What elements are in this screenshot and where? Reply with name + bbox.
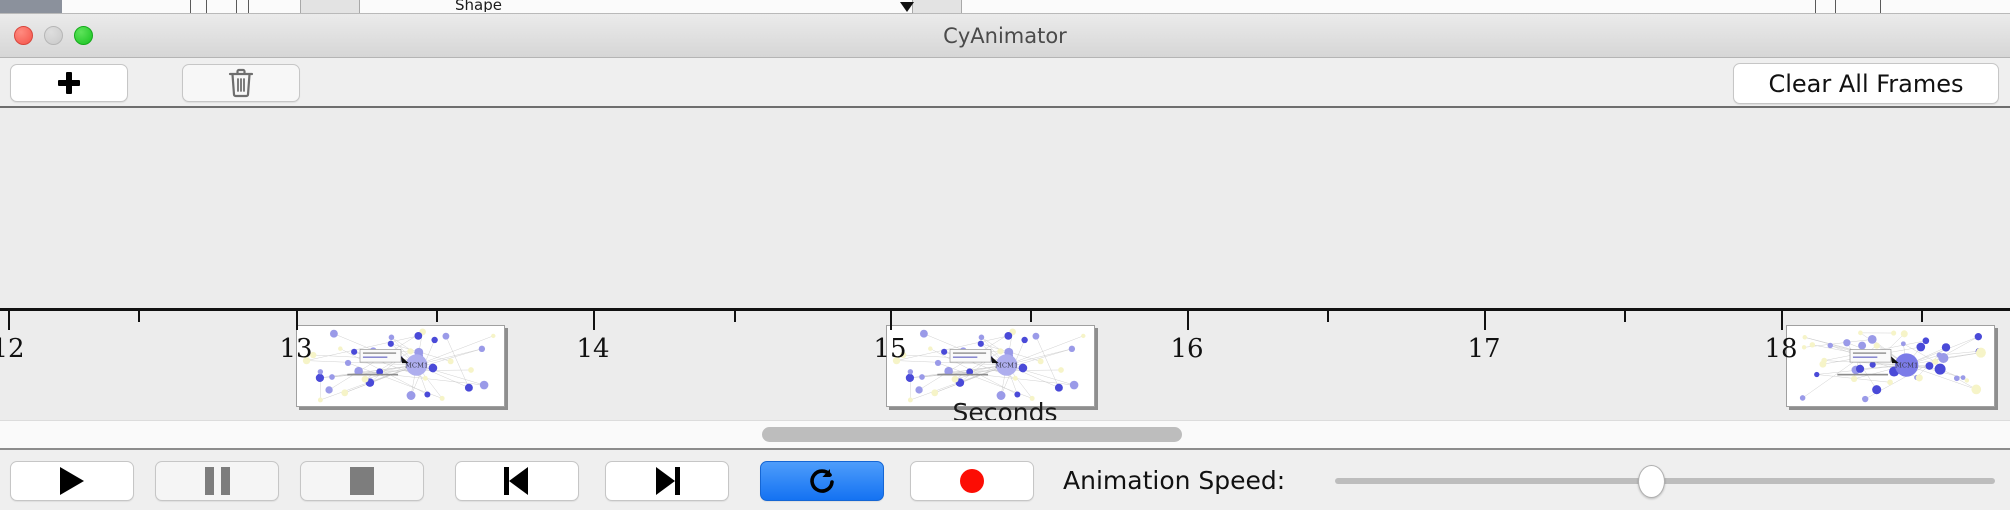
record-button[interactable]	[910, 461, 1034, 501]
background-tab	[912, 0, 962, 14]
axis-title: Seconds	[0, 398, 2010, 420]
ruler-tick-minor	[1921, 311, 1923, 322]
skip-forward-button[interactable]	[605, 461, 729, 501]
loop-button[interactable]	[760, 461, 884, 501]
background-app-strip: Shape	[0, 0, 2010, 14]
background-tick	[248, 0, 249, 14]
play-button[interactable]	[10, 461, 134, 501]
skip-forward-icon	[654, 467, 680, 495]
playback-control-bar: Animation Speed:	[0, 448, 2010, 510]
toolbar: Clear All Frames	[0, 58, 2010, 108]
animation-speed-slider[interactable]	[1335, 461, 1995, 501]
scrollbar-thumb[interactable]	[762, 427, 1182, 442]
ruler-tick-label: 18	[1764, 334, 1797, 364]
horizontal-scrollbar[interactable]	[0, 420, 2010, 448]
background-app-word: Shape	[455, 0, 502, 12]
ruler-tick-label: 14	[576, 334, 609, 364]
background-arrow-icon	[900, 2, 914, 12]
ruler-tick-minor	[1030, 311, 1032, 322]
stop-button[interactable]	[300, 461, 424, 501]
ruler-tick-label: 12	[0, 334, 25, 364]
skip-back-icon	[504, 467, 530, 495]
background-tab	[300, 0, 360, 14]
background-tick	[1880, 0, 1881, 14]
ruler-tick-minor	[436, 311, 438, 322]
ruler-tick-major	[1781, 311, 1783, 330]
play-icon	[60, 467, 84, 495]
slider-thumb[interactable]	[1638, 465, 1665, 498]
ruler-tick-minor	[1327, 311, 1329, 322]
ruler-tick-major	[296, 311, 298, 330]
ruler-tick-label: 15	[873, 334, 906, 364]
ruler-tick-minor	[1624, 311, 1626, 322]
animation-speed-label: Animation Speed:	[1063, 461, 1285, 501]
ruler-tick-label: 17	[1467, 334, 1500, 364]
pause-icon	[205, 467, 230, 495]
background-tick	[1815, 0, 1816, 14]
ruler-tick-major	[890, 311, 892, 330]
ruler-tick-major	[1187, 311, 1189, 330]
slider-track[interactable]	[1335, 478, 1995, 484]
timeline-ruler[interactable]: 12131415161718	[0, 308, 2010, 368]
record-icon	[960, 469, 984, 493]
window-title: CyAnimator	[0, 14, 2010, 58]
delete-frame-button[interactable]	[182, 64, 300, 102]
stop-icon	[350, 467, 374, 495]
background-tick	[1835, 0, 1836, 14]
ruler-tick-major	[593, 311, 595, 330]
ruler-tick-minor	[138, 311, 140, 322]
trash-icon	[228, 68, 254, 98]
ruler-tick-major	[8, 311, 10, 330]
background-tick	[236, 0, 237, 14]
skip-back-button[interactable]	[455, 461, 579, 501]
background-dark-block	[0, 0, 62, 14]
title-bar: CyAnimator	[0, 14, 2010, 58]
pause-button[interactable]	[155, 461, 279, 501]
background-tick	[206, 0, 207, 14]
ruler-tick-minor	[734, 311, 736, 322]
cyanimator-window: Shape CyAnimator Clear All Frames MCM1	[0, 0, 2010, 510]
plus-icon	[58, 72, 80, 94]
clear-all-frames-button[interactable]: Clear All Frames	[1733, 63, 1999, 104]
background-tick	[190, 0, 191, 14]
add-frame-button[interactable]	[10, 64, 128, 102]
ruler-tick-label: 16	[1170, 334, 1203, 364]
ruler-tick-label: 13	[279, 334, 312, 364]
ruler-tick-major	[1484, 311, 1486, 330]
loop-icon	[807, 466, 837, 496]
timeline-panel[interactable]: MCM1 MCM1 MCM1 12131415161718 Seconds	[0, 110, 2010, 420]
ruler-baseline	[0, 308, 2010, 311]
